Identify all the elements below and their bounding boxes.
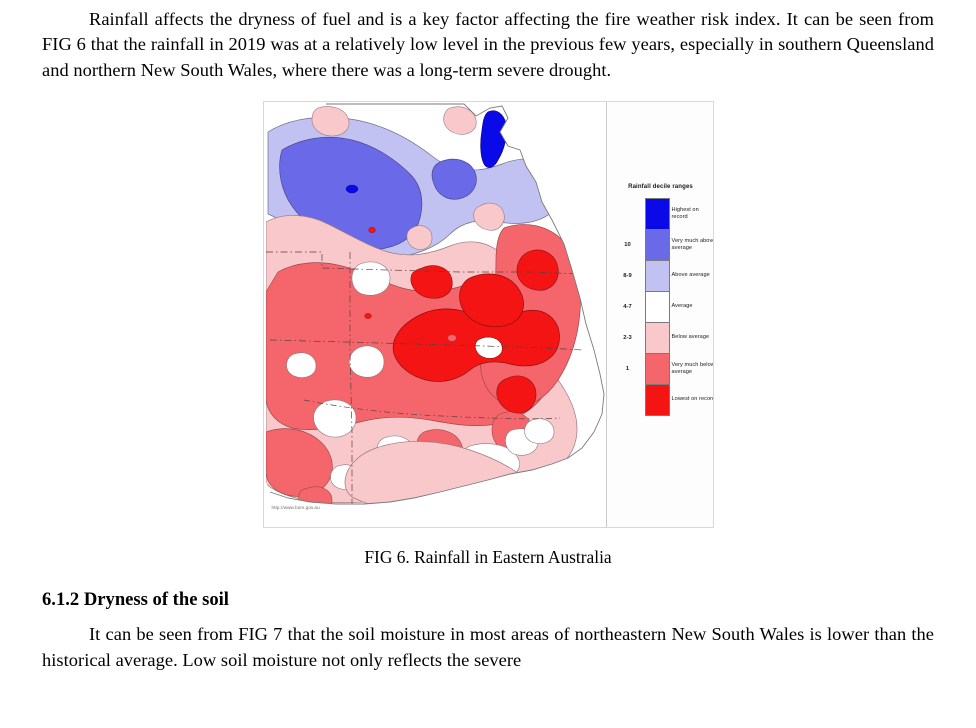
legend-decile-1: 10 <box>613 229 643 260</box>
legend-decile-5: 1 <box>613 353 643 384</box>
document-page: Rainfall affects the dryness of fuel and… <box>0 0 976 728</box>
region-average-patch-8 <box>524 419 554 444</box>
legend-label-lowest-on-record: Lowest on record <box>672 384 714 415</box>
region-below-average-patch-n4 <box>406 226 431 250</box>
bom-watermark: http://www.bom.gov.au <box>272 505 320 510</box>
legend-panel: Rainfall decile ranges 10 8-9 4-7 2-3 1 <box>607 102 714 527</box>
region-highest-on-record-dot <box>346 185 358 193</box>
region-lowest-dot-1 <box>368 227 375 233</box>
legend-swatch-highest-on-record <box>646 199 669 229</box>
rainfall-decile-map <box>264 102 606 527</box>
legend-swatch-very-much-above-average <box>646 229 669 260</box>
section-heading: 6.1.2 Dryness of the soil <box>42 568 934 612</box>
legend-label-highest-on-record: Highest on record <box>672 198 714 229</box>
legend-title: Rainfall decile ranges <box>609 183 713 190</box>
region-lowest-dot-2 <box>364 314 371 319</box>
map-panel: http://www.bom.gov.au <box>264 102 606 527</box>
region-lowest-dot-3 <box>447 335 455 341</box>
paragraph-rainfall-intro: Rainfall affects the dryness of fuel and… <box>42 0 934 83</box>
region-lowest-on-record-ne <box>516 250 557 290</box>
legend-label-average: Average <box>672 291 714 322</box>
legend-label-very-much-above-average: Very much above average <box>672 229 714 260</box>
legend-decile-4: 2-3 <box>613 322 643 353</box>
region-average-patch-10 <box>286 353 316 378</box>
legend-decile-6 <box>613 384 643 415</box>
legend-decile-3: 4-7 <box>613 291 643 322</box>
region-average-patch-9 <box>351 262 389 295</box>
legend-color-scale <box>645 198 670 416</box>
legend-swatch-lowest-on-record <box>646 384 669 415</box>
legend-swatch-average <box>646 291 669 322</box>
legend-swatch-above-average <box>646 260 669 291</box>
legend-label-above-average: Above average <box>672 260 714 291</box>
legend-decile-column: 10 8-9 4-7 2-3 1 <box>613 198 643 415</box>
legend-label-very-much-below-average: Very much below average <box>672 353 714 384</box>
region-average-patch-1 <box>349 346 384 377</box>
figure-container: http://www.bom.gov.au Rainfall decile ra… <box>42 83 934 528</box>
legend-label-column: Highest on record Very much above averag… <box>672 198 714 415</box>
legend-swatch-very-much-below-average <box>646 353 669 384</box>
region-average-hole <box>475 337 502 358</box>
legend-decile-2: 8-9 <box>613 260 643 291</box>
legend-label-below-average: Below average <box>672 322 714 353</box>
legend-decile-0 <box>613 198 643 229</box>
paragraph-soil-dryness: It can be seen from FIG 7 that the soil … <box>42 612 934 673</box>
figure-rainfall-map: http://www.bom.gov.au Rainfall decile ra… <box>263 101 714 528</box>
figure-caption: FIG 6. Rainfall in Eastern Australia <box>42 528 934 568</box>
legend-swatch-below-average <box>646 322 669 353</box>
